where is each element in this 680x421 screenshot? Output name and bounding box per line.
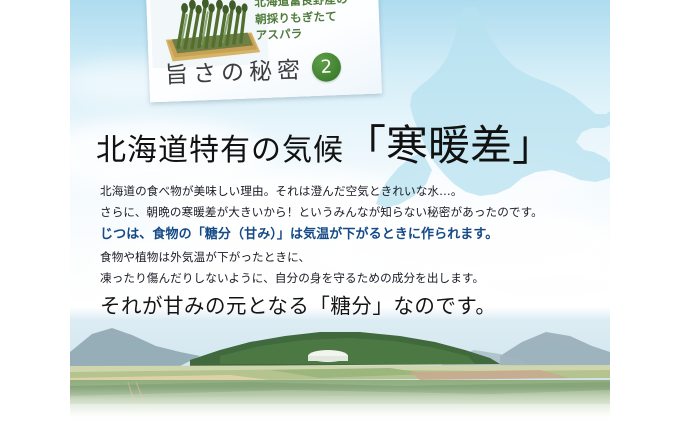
promo-page: 北海道富良野産の 朝採りもぎたて アスパラ 旨さの秘密 2 北海道特有の気候「寒… — [0, 0, 680, 421]
headline-emphasis: 「寒暖差」 — [344, 121, 554, 170]
body-line: 北海道の食べ物が美味しい理由。それは澄んだ空気ときれいな水…。 — [100, 181, 590, 202]
badge-green-caption: 北海道富良野産の 朝採りもぎたて アスパラ — [254, 0, 378, 44]
badge-title: 旨さの秘密 — [164, 50, 305, 89]
body-line-closing: それが甘みの元となる「糖分」なのです。 — [100, 291, 590, 321]
body-line: 凍ったり傷んだりしないように、自分の身を守るための成分を出します。 — [100, 268, 590, 289]
body-line: さらに、朝晩の寒暖差が大きいから！というみんなが知らない秘密があったのです。 — [100, 202, 590, 223]
body-line: 食物や植物は外気温が下がったときに、 — [100, 247, 590, 268]
content-panel: 北海道富良野産の 朝採りもぎたて アスパラ 旨さの秘密 2 北海道特有の気候「寒… — [70, 0, 610, 421]
badge-title-row: 旨さの秘密 2 — [164, 48, 375, 90]
body-copy: 北海道の食べ物が美味しい理由。それは澄んだ空気ときれいな水…。 さらに、朝晩の寒… — [100, 181, 590, 321]
badge-number-circle: 2 — [311, 52, 341, 82]
page-title: 北海道特有の気候「寒暖差」 — [96, 112, 596, 173]
secret-badge-card: 北海道富良野産の 朝採りもぎたて アスパラ 旨さの秘密 2 — [146, 0, 382, 102]
badge-green-line: アスパラ — [255, 23, 378, 44]
landscape-photo — [70, 308, 610, 421]
headline-prefix: 北海道特有の気候 — [96, 133, 344, 168]
body-line-highlight: じつは、食物の「糖分（甘み）」は気温が下がるときに作られます。 — [100, 223, 590, 247]
